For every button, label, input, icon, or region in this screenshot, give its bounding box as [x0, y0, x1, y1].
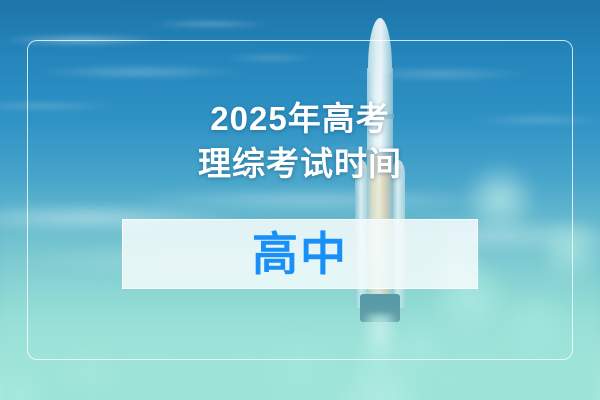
- poster-image: 2025年高考 理综考试时间 高中: [0, 0, 600, 400]
- title-line-1: 2025年高考: [0, 96, 600, 141]
- category-banner-label: 高中: [252, 231, 348, 277]
- title-line-2: 理综考试时间: [0, 141, 600, 186]
- exhaust-smoke-bottom: [0, 180, 600, 400]
- background-photo: [0, 0, 600, 400]
- category-banner: 高中: [122, 219, 478, 289]
- rocket-nose-cone: [368, 18, 392, 74]
- page-title: 2025年高考 理综考试时间: [0, 96, 600, 186]
